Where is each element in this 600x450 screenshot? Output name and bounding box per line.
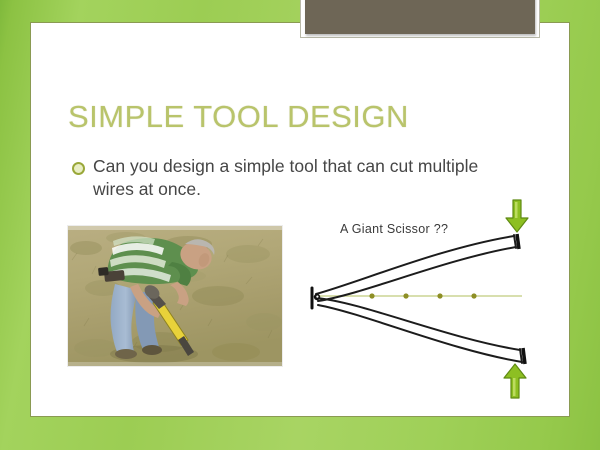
bullet-item-label: Can you design a simple tool that can cu… xyxy=(93,155,503,201)
page-title: SIMPLE TOOL DESIGN xyxy=(68,99,409,135)
bottom-force-arrow xyxy=(504,364,526,398)
diagram-caption: A Giant Scissor ?? xyxy=(340,222,448,236)
tool-demonstration-photo xyxy=(68,226,282,366)
upper-blade-tip xyxy=(517,234,519,249)
lower-blade-tip xyxy=(523,348,525,364)
bullet-list-item: Can you design a simple tool that can cu… xyxy=(72,155,512,201)
lower-blade xyxy=(316,298,522,363)
presentation-slide: SIMPLE TOOL DESIGN Can you design a simp… xyxy=(0,0,600,450)
bullet-ring-icon xyxy=(72,162,85,175)
upper-blade xyxy=(316,235,516,301)
top-force-arrow xyxy=(506,200,528,232)
header-decoration-block xyxy=(305,0,535,34)
photo-graphic xyxy=(68,226,282,366)
